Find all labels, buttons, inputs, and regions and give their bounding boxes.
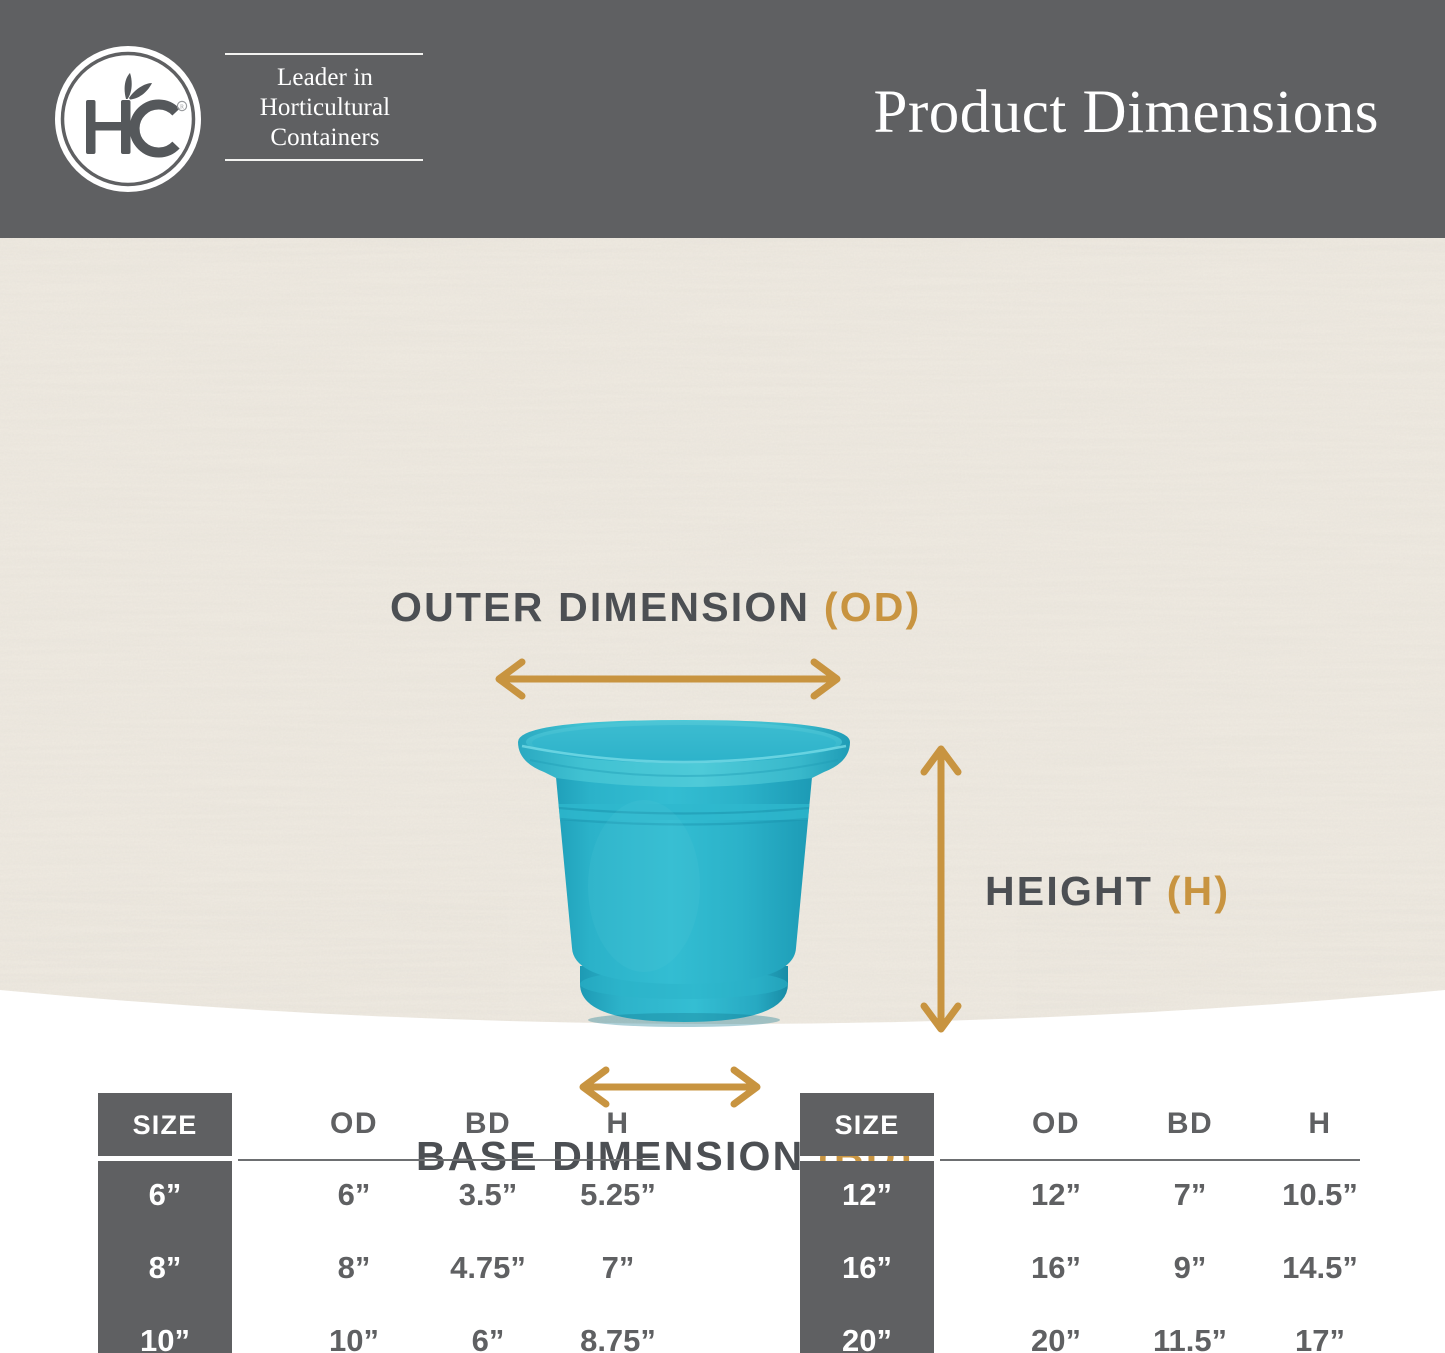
table-cell-h: 5.25” (558, 1177, 678, 1213)
table-row-size: 8” (98, 1250, 232, 1286)
table-cell-h: 14.5” (1260, 1250, 1380, 1286)
table-row-size: 10” (98, 1323, 232, 1353)
od-column-header: OD (996, 1107, 1116, 1141)
brand-tagline-block: Leader in Horticultural Containers (225, 53, 425, 161)
table-cell-h: 8.75” (558, 1323, 678, 1353)
outer-dimension-text: OUTER DIMENSION (390, 584, 824, 630)
brand-logo: R Leader in Horticultural Containers (53, 44, 383, 196)
outer-dimension-label: OUTER DIMENSION (OD) (390, 584, 921, 631)
header-divider (940, 1159, 1360, 1161)
bd-column-header: BD (1130, 1107, 1250, 1141)
table-row-size: 20” (800, 1323, 934, 1353)
table-cell-od: 10” (294, 1323, 414, 1353)
hc-logo-icon: R (53, 44, 203, 194)
table-cell-bd: 11.5” (1130, 1323, 1250, 1353)
table-cell-bd: 6” (428, 1323, 548, 1353)
outer-dimension-arrow-icon (486, 656, 850, 702)
brand-tagline: Leader in Horticultural Containers (225, 55, 425, 159)
height-text: HEIGHT (985, 868, 1167, 914)
height-arrow-icon (918, 736, 964, 1042)
table-cell-od: 16” (996, 1250, 1116, 1286)
size-header-label: SIZE (98, 1110, 232, 1141)
table-row-size: 6” (98, 1177, 232, 1213)
height-abbr: (H) (1167, 868, 1231, 914)
table-cell-od: 6” (294, 1177, 414, 1213)
page-title: Product Dimensions (874, 78, 1379, 148)
table-cell-od: 8” (294, 1250, 414, 1286)
svg-text:R: R (180, 105, 184, 111)
table-cell-h: 7” (558, 1250, 678, 1286)
h-column-header: H (1260, 1107, 1380, 1141)
table-cell-h: 17” (1260, 1323, 1380, 1353)
table-row-size: 16” (800, 1250, 934, 1286)
table-cell-bd: 3.5” (428, 1177, 548, 1213)
tagline-rule-bottom (225, 159, 423, 161)
header-bar: R Leader in Horticultural Containers Pro… (0, 0, 1445, 238)
header-divider (238, 1159, 658, 1161)
table-cell-bd: 9” (1130, 1250, 1250, 1286)
table-cell-od: 20” (996, 1323, 1116, 1353)
dimensions-table-large: SIZE OD BD H 12” 16” 20” 12” 7” 10.5” 16… (800, 1093, 1360, 1353)
size-header-label: SIZE (800, 1110, 934, 1141)
dimensions-table-small: SIZE OD BD H 6” 8” 10” 6” 3.5” 5.25” 8” … (98, 1093, 658, 1353)
size-column-header: SIZE (800, 1093, 934, 1156)
table-cell-bd: 7” (1130, 1177, 1250, 1213)
bd-column-header: BD (428, 1107, 548, 1141)
h-column-header: H (558, 1107, 678, 1141)
table-row-size: 12” (800, 1177, 934, 1213)
table-cell-od: 12” (996, 1177, 1116, 1213)
od-column-header: OD (294, 1107, 414, 1141)
outer-dimension-abbr: (OD) (824, 584, 922, 630)
height-label: HEIGHT (H) (985, 868, 1230, 915)
planter-pot-illustration (494, 716, 874, 1056)
table-cell-bd: 4.75” (428, 1250, 548, 1286)
size-column-header: SIZE (98, 1093, 232, 1156)
diagram-panel: OUTER DIMENSION (OD) (0, 238, 1445, 1038)
table-cell-h: 10.5” (1260, 1177, 1380, 1213)
product-dimensions-infographic: R Leader in Horticultural Containers Pro… (0, 0, 1445, 1353)
